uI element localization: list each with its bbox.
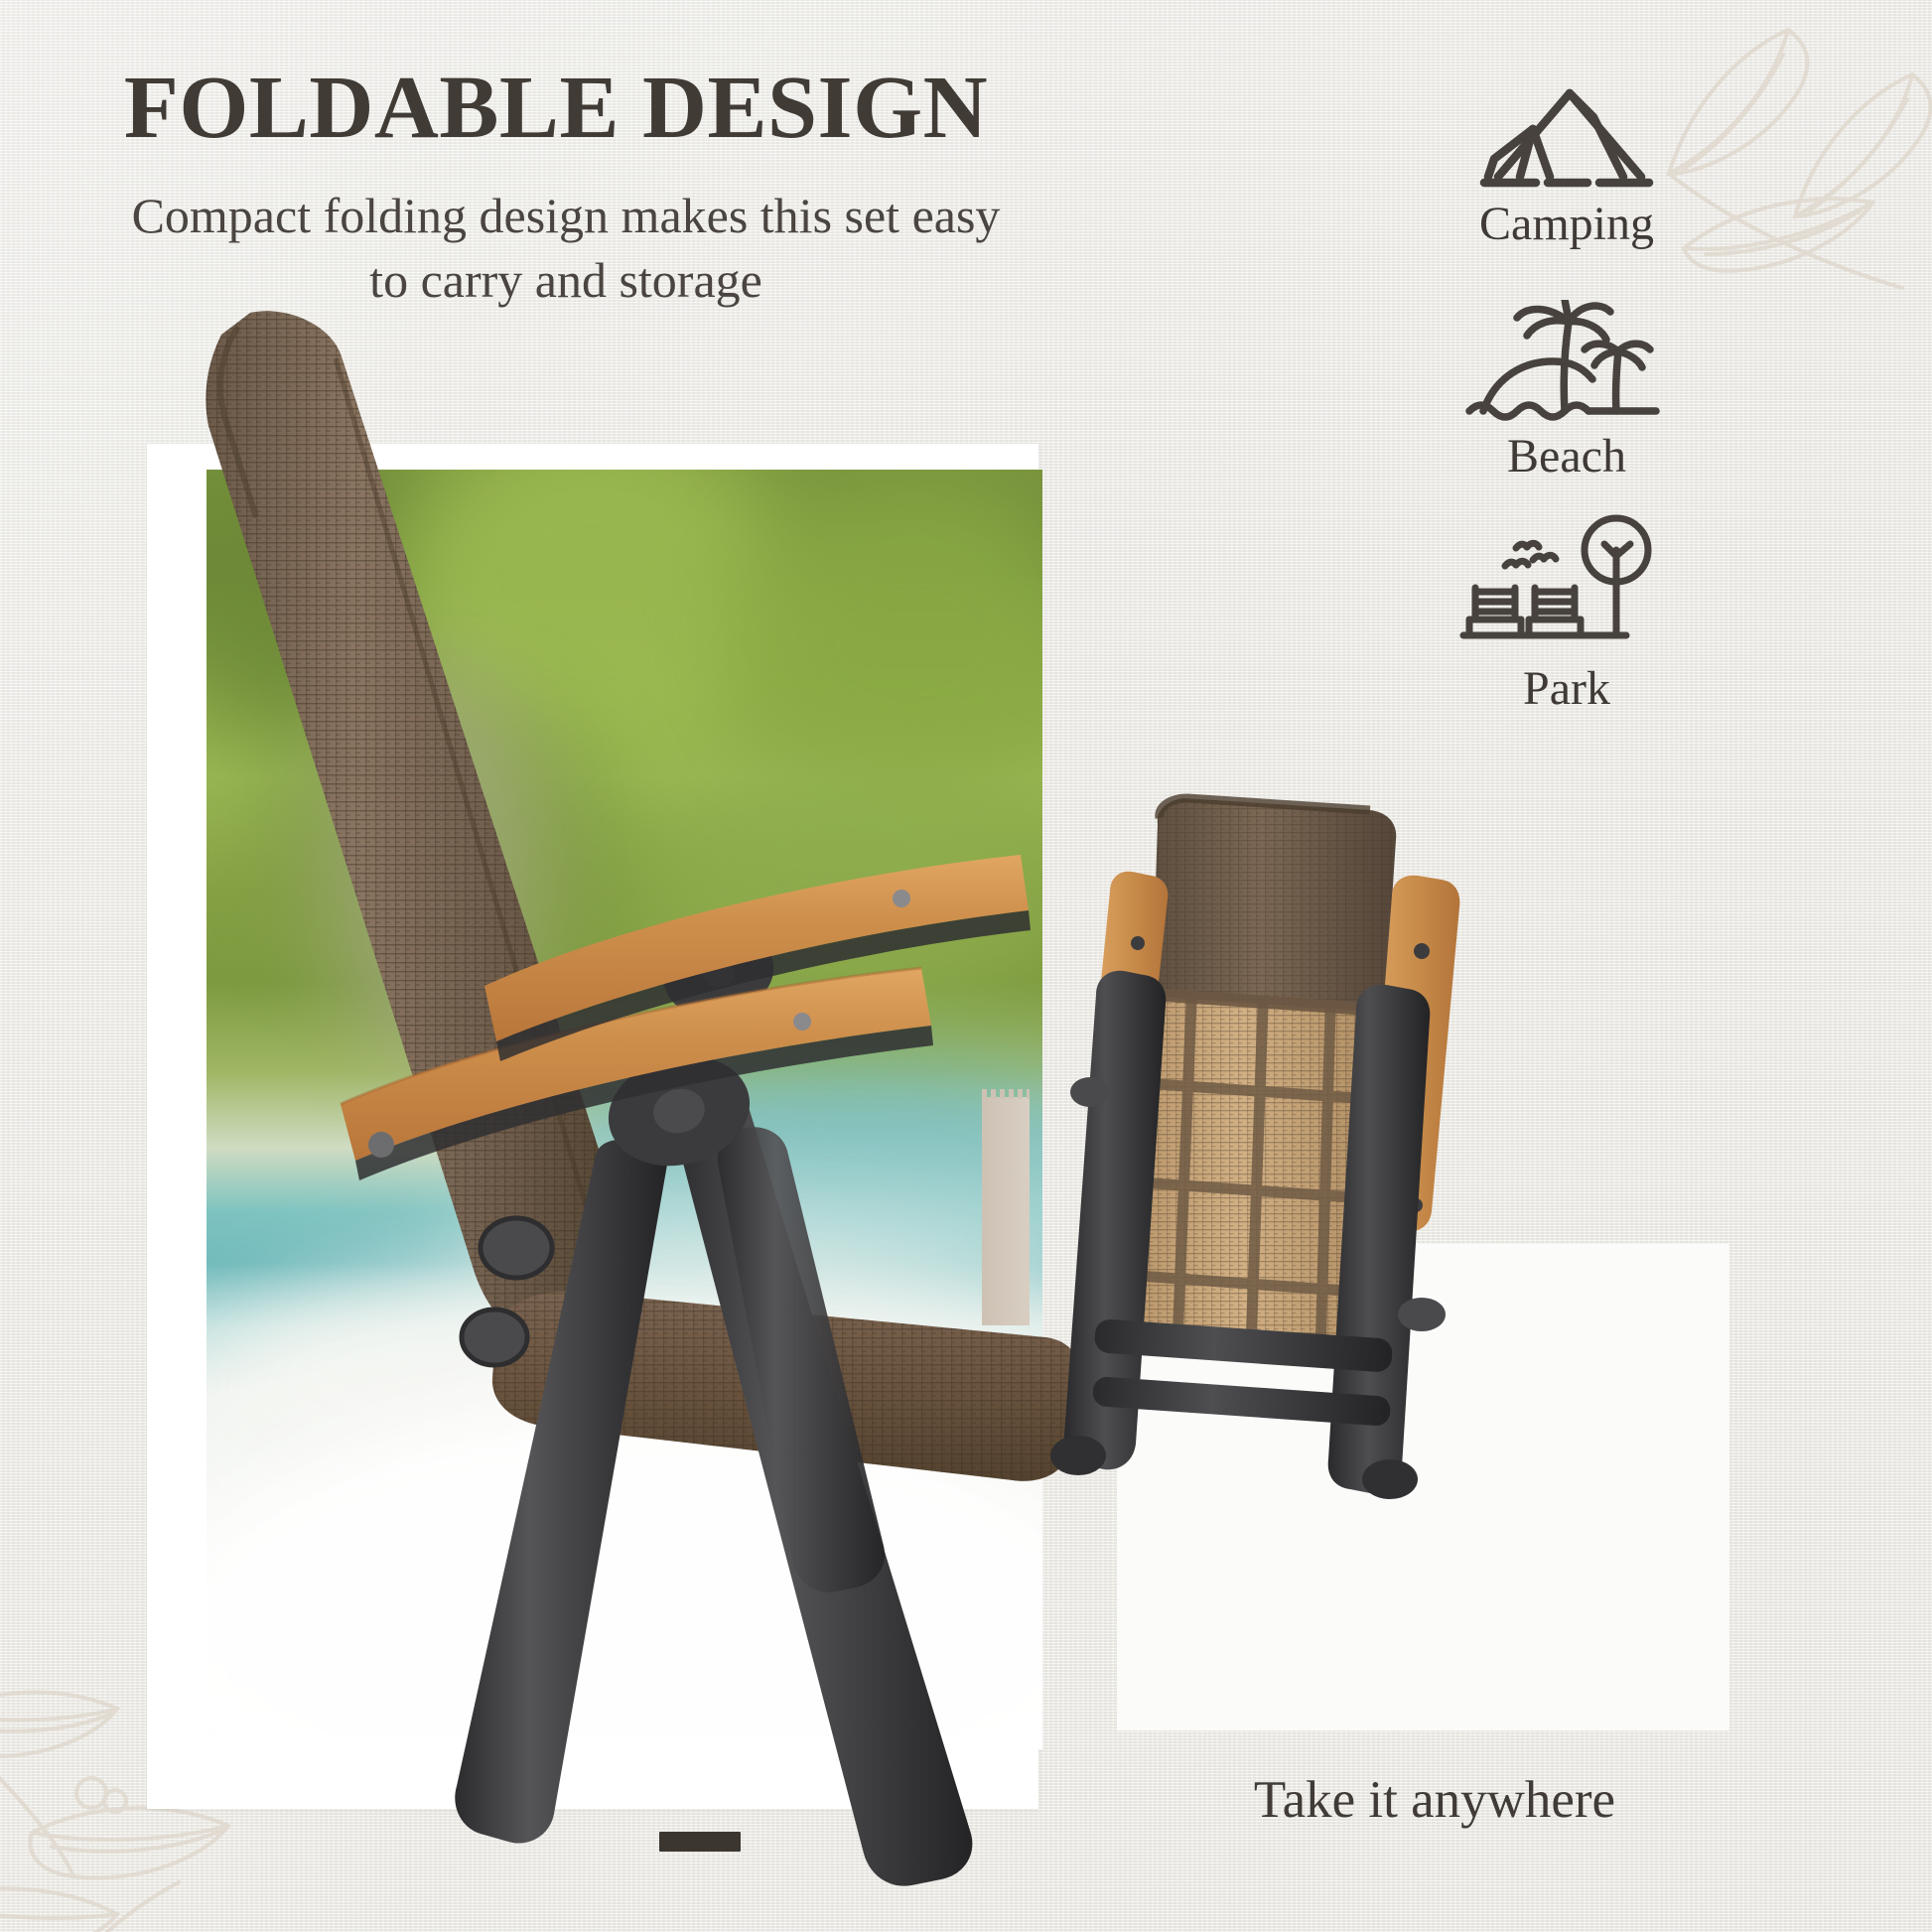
chair-backrest: [206, 311, 635, 1335]
tan-accent-strip: [982, 1097, 1030, 1325]
chair-illustration: [147, 444, 1038, 1932]
park-bench-tree-birds-icon: [1388, 520, 1745, 659]
main-product-photo-card: [147, 444, 1038, 1809]
poster-canvas: FOLDABLE DESIGN Compact folding design m…: [0, 0, 1932, 1932]
use-case-label-beach: Beach: [1388, 433, 1745, 481]
page-subtitle: Compact folding design makes this set ea…: [109, 184, 1023, 313]
use-case-label-camping: Camping: [1388, 201, 1745, 248]
palm-tree-beach-icon: [1388, 288, 1745, 427]
tent-icon: [1388, 77, 1745, 195]
use-case-label-park: Park: [1388, 665, 1745, 713]
use-case-item-camping: Camping: [1388, 77, 1745, 248]
page-title: FOLDABLE DESIGN: [0, 62, 1112, 155]
bottom-accent-bar: [659, 1832, 741, 1852]
use-case-icon-column: Camping: [1388, 77, 1745, 753]
use-case-item-beach: Beach: [1388, 288, 1745, 481]
inset-caption: Take it anywhere: [1117, 1770, 1752, 1830]
folded-chair-illustration: [1033, 784, 1588, 1539]
use-case-item-park: Park: [1388, 520, 1745, 713]
